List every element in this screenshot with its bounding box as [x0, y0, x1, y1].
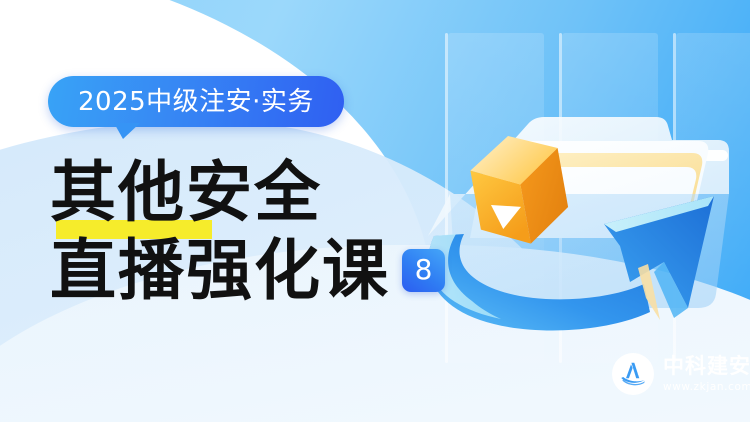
- headline-line-2: 直播强化课: [50, 237, 390, 303]
- tag-pill-body: 2025中级注安·实务: [48, 76, 344, 127]
- course-tag-pill: 2025中级注安·实务: [48, 76, 344, 127]
- brand-website: www.zkjan.com: [663, 381, 750, 393]
- tag-pill-label: 2025中级注安·实务: [78, 89, 314, 115]
- episode-number-badge: 8: [402, 249, 445, 292]
- logo-text-block: 中科建安 www.zkjan.com: [663, 355, 750, 392]
- headline-block: 其他安全 直播强化课 8: [50, 150, 470, 312]
- episode-number-text: 8: [415, 256, 433, 284]
- course-banner: 2025中级注安·实务 其他安全 直播强化课 8: [0, 0, 750, 422]
- tag-pill-tail: [114, 123, 140, 139]
- brand-name: 中科建安: [663, 355, 750, 377]
- headline-line-1: 其他安全: [50, 159, 322, 225]
- headline-row-1: 其他安全: [50, 150, 470, 234]
- mountain-person-circle-icon: [612, 353, 654, 395]
- brand-logo: 中科建安 www.zkjan.com: [612, 353, 750, 395]
- headline-row-2: 直播强化课 8: [50, 228, 470, 312]
